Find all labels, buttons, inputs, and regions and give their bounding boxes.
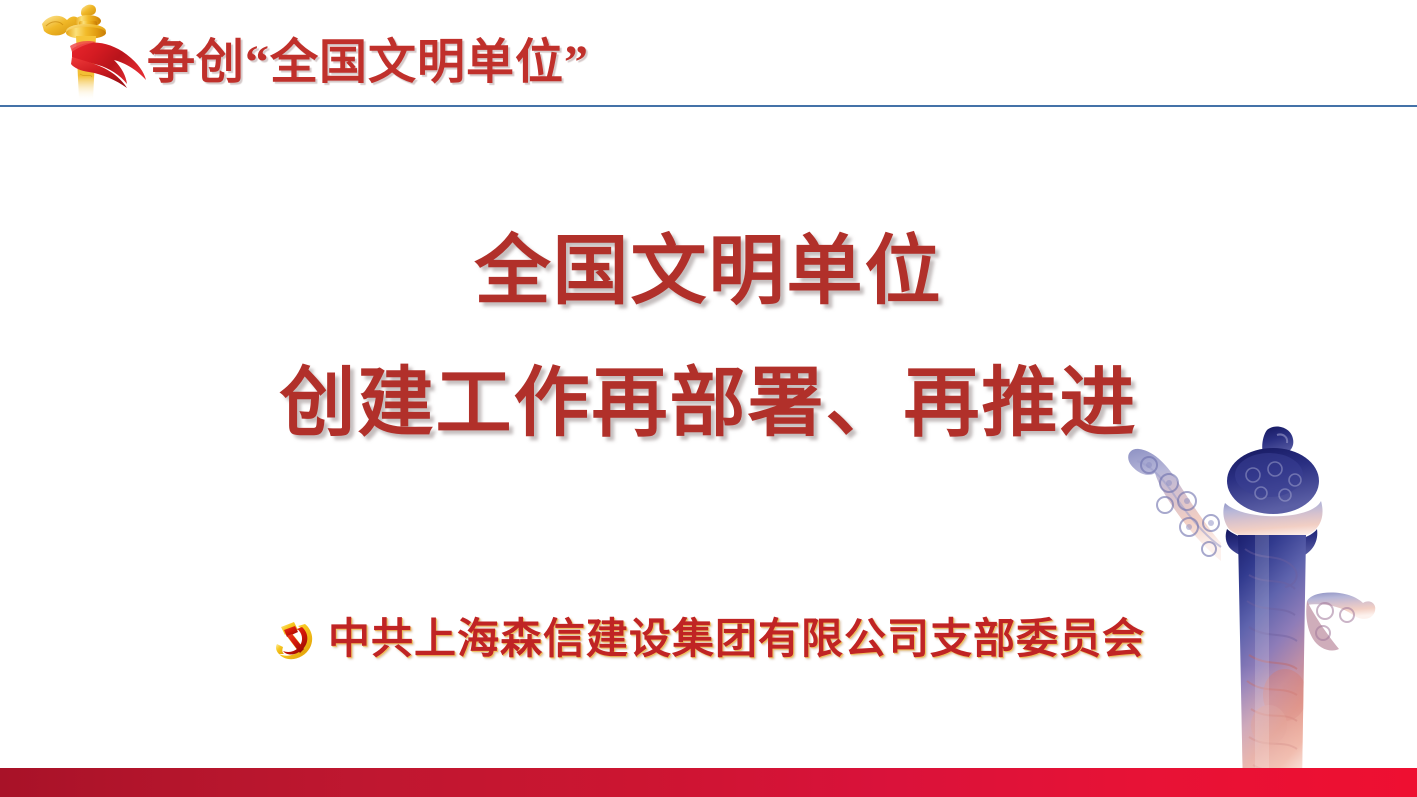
footer-accent-bar <box>0 768 1417 797</box>
slide-body: 全国文明单位 创建工作再部署、再推进 <box>0 107 1417 768</box>
cpc-party-emblem-icon <box>272 618 318 662</box>
huabiao-ornamental-column-icon <box>1125 425 1417 797</box>
title-line-2: 创建工作再部署、再推进 <box>0 352 1417 456</box>
slide-header: 争创“全国文明单位” <box>0 0 1417 107</box>
huabiao-with-red-ribbon-icon <box>26 2 148 104</box>
organization-row: 中共上海森信建设集团有限公司支部委员会 <box>0 615 1417 665</box>
organization-name: 中共上海森信建设集团有限公司支部委员会 <box>328 615 1145 665</box>
title-line-1: 全国文明单位 <box>0 220 1417 324</box>
presentation-slide: 争创“全国文明单位” <box>0 0 1417 797</box>
header-title: 争创“全国文明单位” <box>147 34 589 92</box>
title-block: 全国文明单位 创建工作再部署、再推进 <box>0 220 1417 456</box>
